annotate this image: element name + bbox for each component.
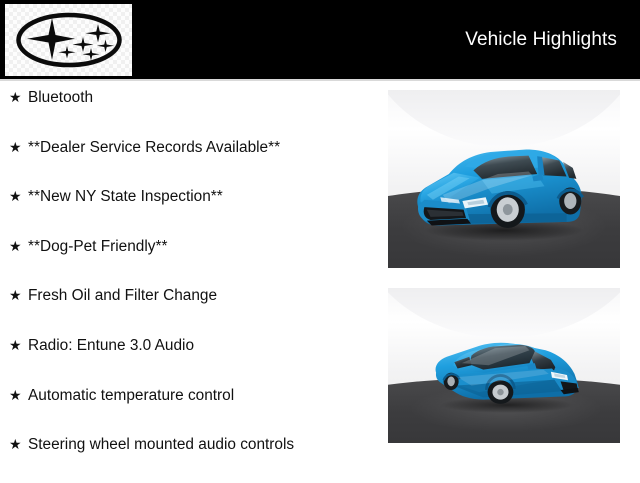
star-bullet-icon: ★	[9, 136, 28, 158]
vehicle-photo-front-three-quarter[interactable]	[388, 90, 620, 268]
list-item: ★ Fresh Oil and Filter Change	[0, 284, 380, 334]
star-bullet-icon: ★	[9, 384, 28, 406]
vehicle-highlights-list: ★ Bluetooth ★ **Dealer Service Records A…	[0, 86, 380, 483]
list-item-label: Automatic temperature control	[28, 385, 380, 407]
list-item-label: **Dog-Pet Friendly**	[28, 236, 380, 258]
vehicle-photo-high-angle-front-side[interactable]	[388, 288, 620, 443]
header-divider	[0, 79, 640, 81]
page-title: Vehicle Highlights	[465, 29, 617, 51]
list-item: ★ Steering wheel mounted audio controls	[0, 433, 380, 483]
car-illustration-front-three-quarter	[402, 136, 606, 246]
star-bullet-icon: ★	[9, 86, 28, 108]
car-illustration-high-angle-front-side	[420, 330, 592, 420]
list-item: ★ **Dealer Service Records Available**	[0, 136, 380, 186]
list-item: ★ Bluetooth	[0, 86, 380, 136]
list-item-label: Radio: Entune 3.0 Audio	[28, 335, 380, 357]
list-item: ★ **Dog-Pet Friendly**	[0, 235, 380, 285]
page-header: Vehicle Highlights	[0, 0, 640, 79]
list-item: ★ Radio: Entune 3.0 Audio	[0, 334, 380, 384]
list-item-label: **Dealer Service Records Available**	[28, 137, 380, 159]
star-bullet-icon: ★	[9, 235, 28, 257]
list-item-label: **New NY State Inspection**	[28, 186, 380, 208]
list-item-label: Bluetooth	[28, 87, 380, 109]
dealer-logo	[5, 4, 132, 76]
vehicle-highlights-page: Vehicle Highlights ★ Bluetooth ★ **Deale…	[0, 0, 640, 480]
subaru-pleiades-logo-icon	[15, 11, 123, 69]
list-item: ★ **New NY State Inspection**	[0, 185, 380, 235]
list-item: ★ Automatic temperature control	[0, 384, 380, 434]
list-item-label: Fresh Oil and Filter Change	[28, 285, 380, 307]
star-bullet-icon: ★	[9, 433, 28, 455]
star-bullet-icon: ★	[9, 334, 28, 356]
star-bullet-icon: ★	[9, 185, 28, 207]
list-item-label: Steering wheel mounted audio controls	[28, 434, 380, 456]
star-bullet-icon: ★	[9, 284, 28, 306]
